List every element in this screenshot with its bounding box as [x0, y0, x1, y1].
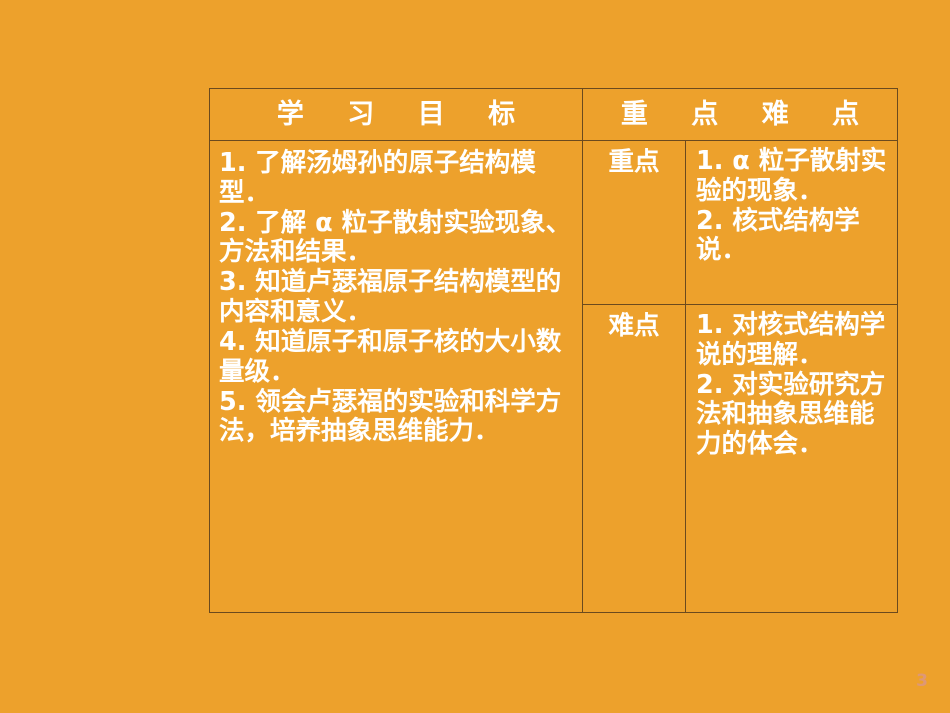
difficult-points-content: 1. 对核式结构学说的理解． 2. 对实验研究方法和抽象思维能力的体会．: [686, 305, 897, 612]
list-item: 1. α 粒子散射实验的现象．: [696, 147, 891, 207]
objectives-list: 1. 了解汤姆孙的原子结构模型． 2. 了解 α 粒子散射实验现象、方法和结果．…: [210, 141, 582, 453]
learning-objectives-cell: 1. 了解汤姆孙的原子结构模型． 2. 了解 α 粒子散射实验现象、方法和结果．…: [210, 141, 583, 612]
list-item: 2. 对实验研究方法和抽象思维能力的体会．: [696, 371, 891, 460]
learning-objectives-table: 学 习 目 标 重 点 难 点 1. 了解汤姆孙的原子结构模型． 2. 了解 α…: [209, 88, 898, 613]
list-item: 1. 了解汤姆孙的原子结构模型．: [219, 149, 572, 209]
slide-canvas: 学 习 目 标 重 点 难 点 1. 了解汤姆孙的原子结构模型． 2. 了解 α…: [0, 0, 950, 713]
key-points-label: 重点: [583, 141, 686, 304]
list-item: 3. 知道卢瑟福原子结构模型的内容和意义．: [219, 268, 572, 328]
difficult-points-label: 难点: [583, 305, 686, 612]
header-key-and-difficult-points: 重 点 难 点: [583, 89, 897, 140]
list-item: 4. 知道原子和原子核的大小数量级．: [219, 328, 572, 388]
table-header-row: 学 习 目 标 重 点 难 点: [210, 89, 897, 141]
header-learning-objectives: 学 习 目 标: [210, 89, 583, 140]
list-item: 2. 了解 α 粒子散射实验现象、方法和结果．: [219, 209, 572, 269]
key-points-content: 1. α 粒子散射实验的现象． 2. 核式结构学说．: [686, 141, 897, 304]
points-cell: 重点 1. α 粒子散射实验的现象． 2. 核式结构学说． 难点 1. 对核式结…: [583, 141, 897, 612]
list-item: 5. 领会卢瑟福的实验和科学方法，培养抽象思维能力．: [219, 388, 572, 448]
table-body-row: 1. 了解汤姆孙的原子结构模型． 2. 了解 α 粒子散射实验现象、方法和结果．…: [210, 141, 897, 612]
difficult-points-row: 难点 1. 对核式结构学说的理解． 2. 对实验研究方法和抽象思维能力的体会．: [583, 305, 897, 612]
key-points-row: 重点 1. α 粒子散射实验的现象． 2. 核式结构学说．: [583, 141, 897, 305]
list-item: 1. 对核式结构学说的理解．: [696, 311, 891, 371]
page-number: 3: [911, 673, 933, 690]
list-item: 2. 核式结构学说．: [696, 207, 891, 267]
